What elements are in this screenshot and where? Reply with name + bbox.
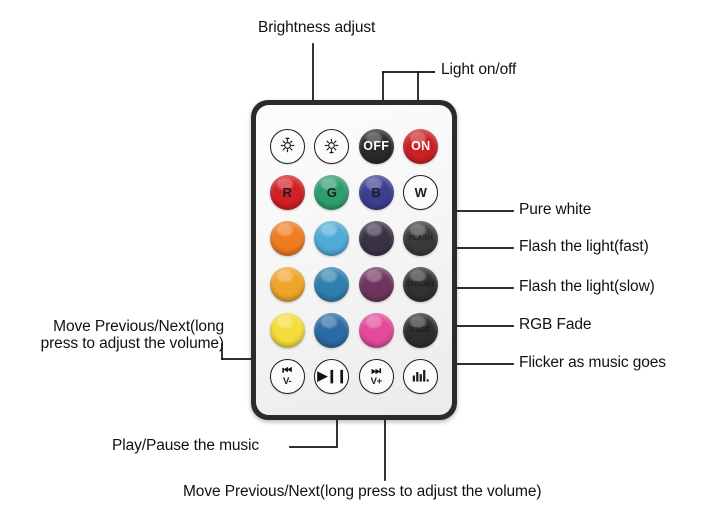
previous-volume-down-button[interactable]: ⏮ V-: [270, 359, 305, 394]
volume-down-label: V-: [283, 377, 291, 387]
callout-play-pause: Play/Pause the music: [112, 437, 259, 454]
color-amber-button[interactable]: [270, 267, 305, 302]
color-white-button[interactable]: W: [403, 175, 438, 210]
color-plum-button[interactable]: [359, 267, 394, 302]
strobe-button[interactable]: STROBE: [403, 267, 438, 302]
callout-rgb-fade: RGB Fade: [519, 316, 591, 333]
light-on-button[interactable]: ON: [403, 129, 438, 164]
callout-move-prev-next-bottom: Move Previous/Next(long press to adjust …: [183, 483, 541, 500]
color-navy-button[interactable]: [314, 313, 349, 348]
color-blue-button[interactable]: B: [359, 175, 394, 210]
color-blue-label: B: [372, 186, 381, 199]
brightness-up-icon: [322, 136, 341, 157]
callout-flash-slow: Flash the light(slow): [519, 278, 655, 295]
callout-flash-fast: Flash the light(fast): [519, 238, 649, 255]
color-teal-button[interactable]: [314, 267, 349, 302]
music-bars-icon: [411, 368, 430, 385]
callout-pure-white: Pure white: [519, 201, 591, 218]
flash-label: FLASH: [409, 235, 433, 242]
next-volume-up-button[interactable]: ⏭ V+: [359, 359, 394, 394]
callout-move-prev-next-left: Move Previous/Next(long press to adjust …: [38, 318, 224, 353]
color-sky-blue-button[interactable]: [314, 221, 349, 256]
color-red-label: R: [283, 186, 292, 199]
play-pause-icon: ▶❙❙: [317, 368, 346, 384]
button-grid: OFF ON R G B W: [265, 123, 443, 399]
brightness-down-button[interactable]: [270, 129, 305, 164]
color-white-label: W: [415, 186, 427, 199]
play-pause-button[interactable]: ▶❙❙: [314, 359, 349, 394]
strobe-label: STROBE: [406, 281, 436, 288]
color-magenta-button[interactable]: [359, 313, 394, 348]
fade-button[interactable]: FADE: [403, 313, 438, 348]
color-green-label: G: [327, 186, 337, 199]
callout-flicker-music: Flicker as music goes: [519, 354, 666, 371]
brightness-up-button[interactable]: [314, 129, 349, 164]
callout-light-on-off: Light on/off: [441, 61, 516, 78]
volume-up-label: V+: [371, 377, 382, 387]
light-off-label: OFF: [363, 140, 389, 153]
light-on-label: ON: [411, 140, 430, 153]
brightness-down-icon: [278, 136, 297, 157]
light-off-button[interactable]: OFF: [359, 129, 394, 164]
diagram-canvas: OFF ON R G B W: [0, 0, 720, 530]
color-yellow-button[interactable]: [270, 313, 305, 348]
remote-control-body: OFF ON R G B W: [251, 100, 457, 420]
music-mode-button[interactable]: [403, 359, 438, 394]
color-green-button[interactable]: G: [314, 175, 349, 210]
flash-button[interactable]: FLASH: [403, 221, 438, 256]
color-dark-purple-button[interactable]: [359, 221, 394, 256]
fade-label: FADE: [411, 327, 430, 334]
callout-brightness-adjust: Brightness adjust: [258, 19, 375, 36]
color-orange-button[interactable]: [270, 221, 305, 256]
remote-face: OFF ON R G B W: [256, 105, 452, 415]
color-red-button[interactable]: R: [270, 175, 305, 210]
